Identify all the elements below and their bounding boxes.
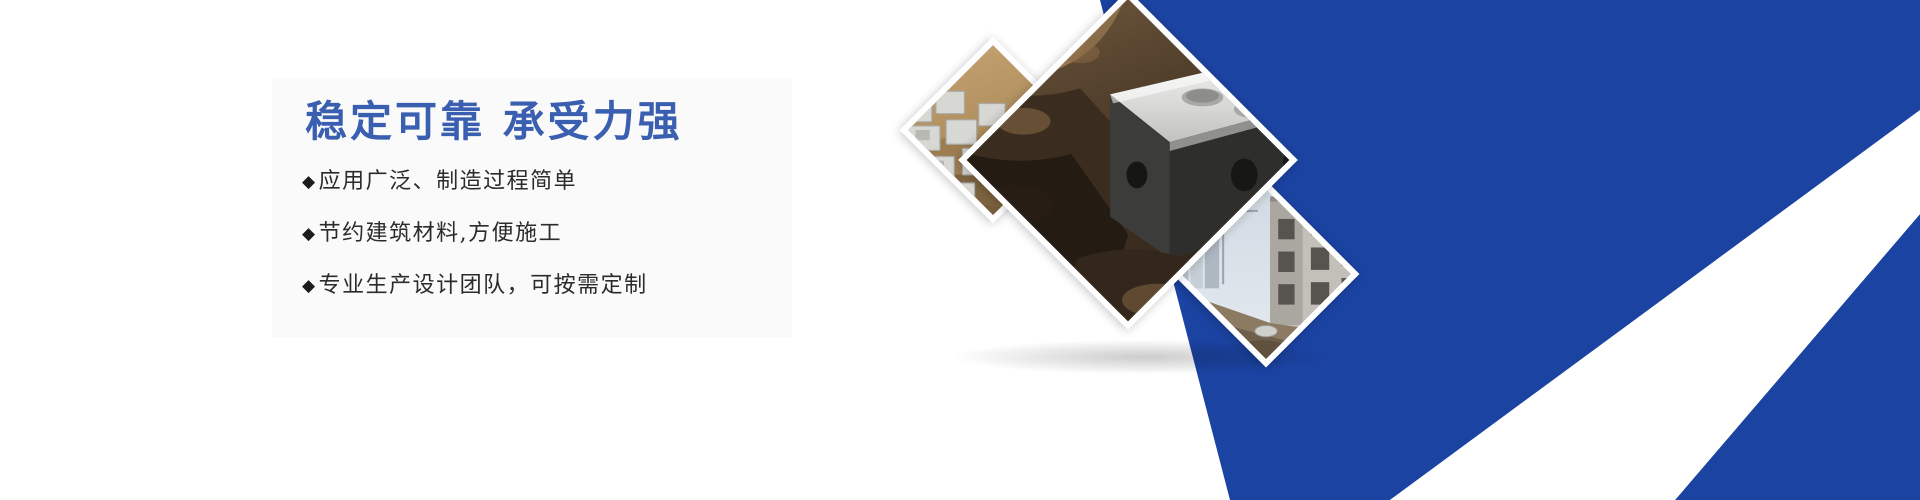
list-item: ◆ 节约建筑材料,方便施工 [302, 223, 772, 245]
list-item: ◆ 专业生产设计团队，可按需定制 [302, 275, 772, 297]
list-item-label: 专业生产设计团队，可按需定制 [319, 275, 648, 297]
diamond-bullet-icon: ◆ [302, 174, 317, 191]
list-item-label: 应用广泛、制造过程简单 [319, 171, 578, 193]
diamond-photo-cluster [915, 0, 1435, 500]
list-item-label: 节约建筑材料,方便施工 [319, 223, 563, 245]
page-title: 稳定可靠 承受力强 [305, 98, 683, 146]
text-panel: 稳定可靠 承受力强 ◆ 应用广泛、制造过程简单 ◆ 节约建筑材料,方便施工 ◆ … [272, 78, 792, 337]
diamond-bullet-icon: ◆ [302, 278, 317, 295]
diamond-bullet-icon: ◆ [302, 226, 317, 243]
blue-bottom-right-triangle [1675, 214, 1920, 500]
feature-list: ◆ 应用广泛、制造过程简单 ◆ 节约建筑材料,方便施工 ◆ 专业生产设计团队，可… [302, 171, 772, 297]
promotional-banner: 稳定可靠 承受力强 ◆ 应用广泛、制造过程简单 ◆ 节约建筑材料,方便施工 ◆ … [0, 0, 1920, 500]
white-diagonal-stripe [1390, 110, 1920, 500]
list-item: ◆ 应用广泛、制造过程简单 [302, 171, 772, 193]
